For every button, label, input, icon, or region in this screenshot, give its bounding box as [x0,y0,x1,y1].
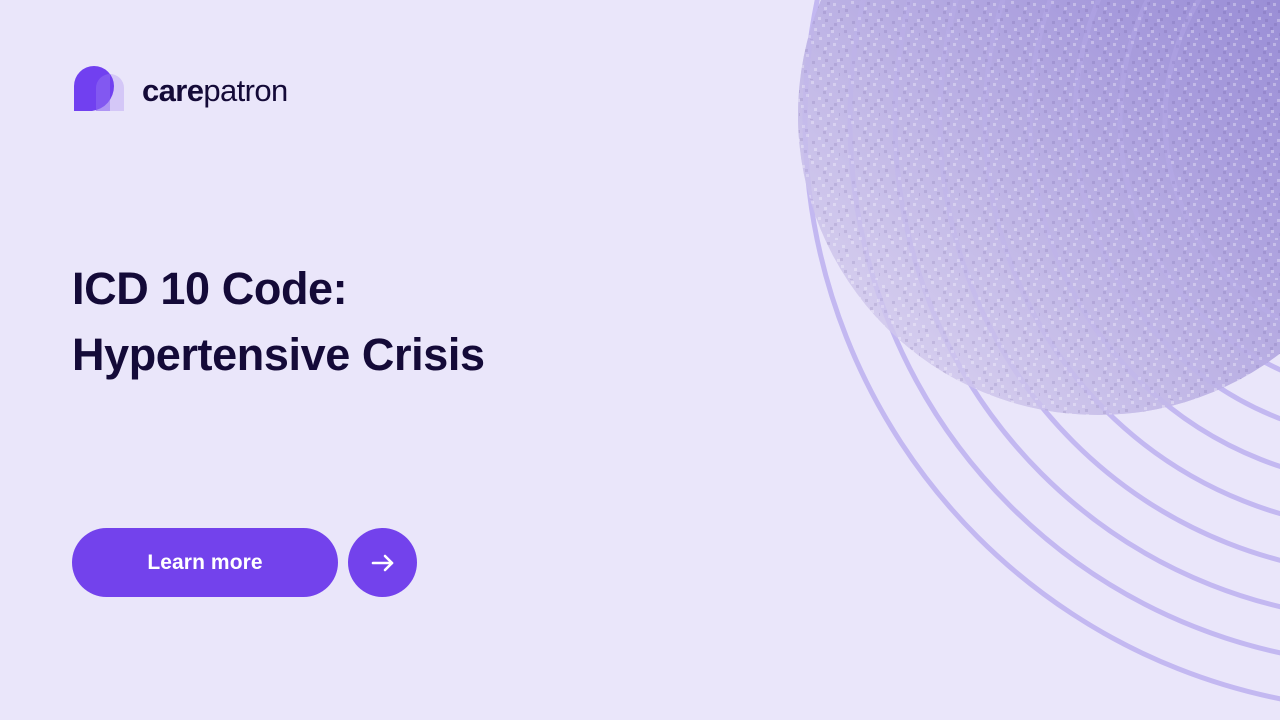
carepatron-wordmark: carepatron [142,75,288,106]
cta-group: Learn more [72,528,417,597]
concentric-arc-lines [805,0,1280,710]
carepatron-logo[interactable]: carepatron [72,64,288,116]
learn-more-arrow-button[interactable] [348,528,417,597]
carepatron-logo-mark [72,64,128,116]
page-title-line-2: Hypertensive Crisis [72,322,712,388]
noise-gradient-circle [790,0,1280,430]
arrow-right-icon [368,548,398,578]
page-title-line-1: ICD 10 Code: [72,256,712,322]
learn-more-button[interactable]: Learn more [72,528,338,597]
circle-overlay-veil [790,0,1280,430]
banner-root: carepatron ICD 10 Code: Hypertensive Cri… [0,0,1280,720]
wordmark-patron: patron [203,73,287,108]
page-title: ICD 10 Code: Hypertensive Crisis [72,256,712,388]
wordmark-care: care [142,73,203,108]
